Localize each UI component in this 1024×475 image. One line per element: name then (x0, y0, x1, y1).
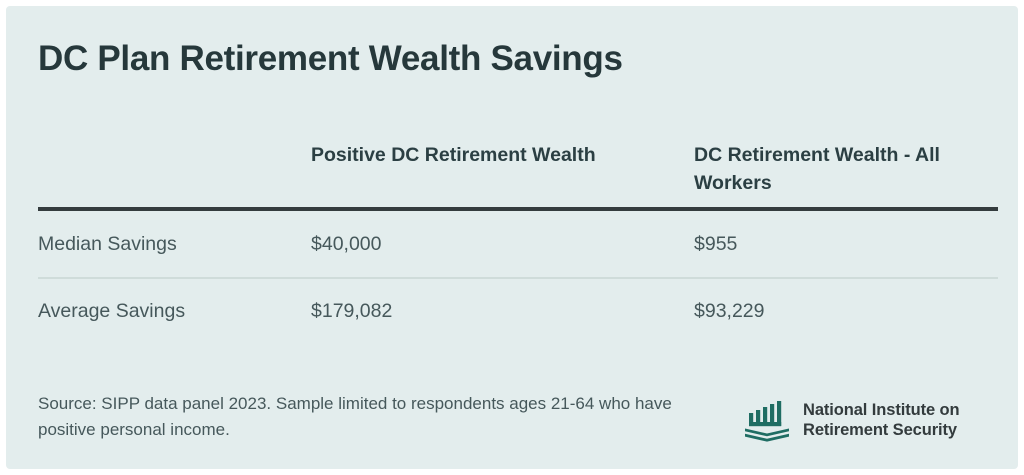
source-note: Source: SIPP data panel 2023. Sample lim… (38, 391, 698, 444)
nirs-logo: National Institute on Retirement Securit… (744, 397, 959, 443)
cell-average-all-workers: $93,229 (694, 299, 992, 324)
page-title: DC Plan Retirement Wealth Savings (38, 39, 623, 79)
infographic-card: DC Plan Retirement Wealth Savings Positi… (6, 6, 1018, 469)
table-row: Median Savings $40,000 $955 (38, 211, 992, 277)
nirs-logo-line-2: Retirement Security (803, 420, 959, 440)
nirs-logo-text: National Institute on Retirement Securit… (803, 400, 959, 441)
column-header-dc-retirement-wealth-all-workers: DC Retirement Wealth - All Workers (694, 142, 992, 197)
cell-average-positive-dc: $179,082 (311, 299, 694, 324)
table-header-row: Positive DC Retirement Wealth DC Retirem… (38, 142, 992, 207)
nirs-bars-book-logo-icon (744, 397, 790, 443)
cell-median-positive-dc: $40,000 (311, 232, 694, 257)
nirs-logo-line-1: National Institute on (803, 400, 959, 420)
column-header-positive-dc-retirement-wealth: Positive DC Retirement Wealth (311, 142, 694, 170)
row-label-average-savings: Average Savings (38, 299, 311, 324)
row-label-median-savings: Median Savings (38, 232, 311, 257)
data-table: Positive DC Retirement Wealth DC Retirem… (38, 142, 992, 345)
table-row: Average Savings $179,082 $93,229 (38, 279, 992, 345)
cell-median-all-workers: $955 (694, 232, 992, 257)
